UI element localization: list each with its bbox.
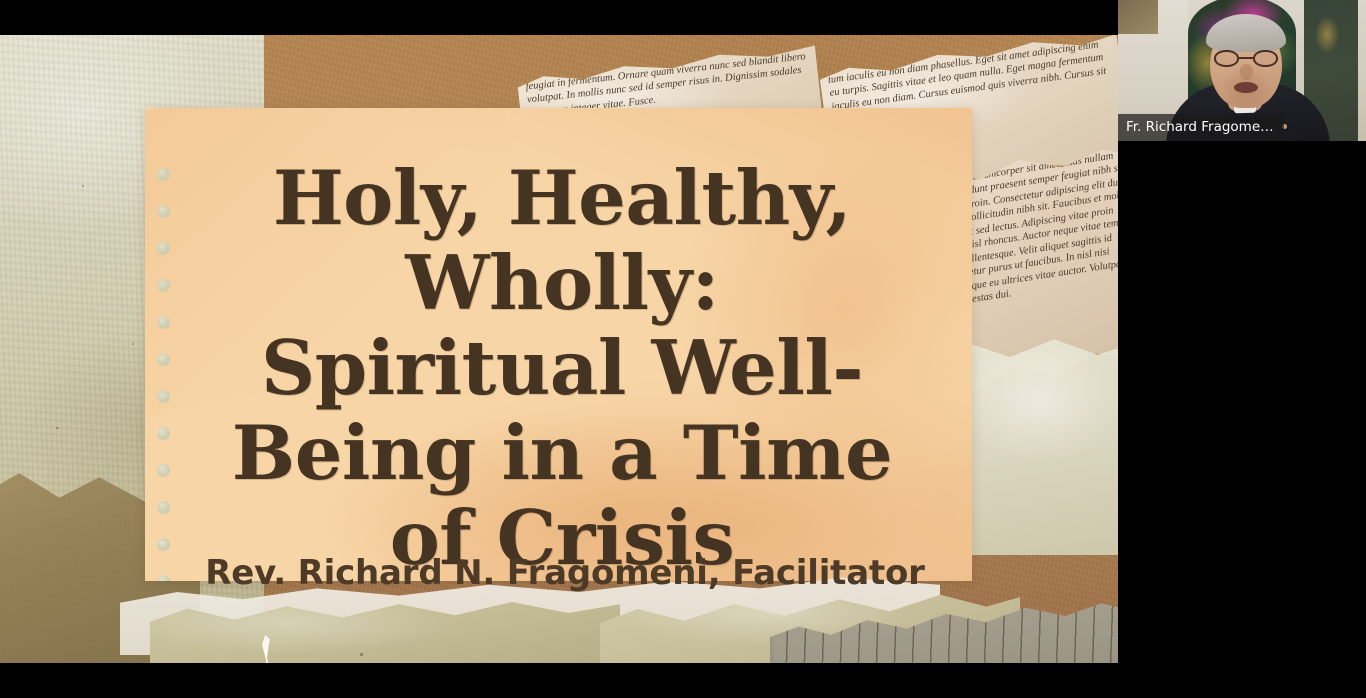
participant-mouth [1234,82,1258,93]
letterbox-top [0,0,1118,35]
letterbox-bottom [0,663,1118,698]
shared-screen-area[interactable]: feugiat in fermentum. Ornare quam viverr… [0,0,1118,698]
slide-title: Holy, Healthy, Wholly: Spiritual Well-Be… [217,156,907,581]
eyeglasses-icon [1214,50,1278,67]
eyeglass-lens-right [1253,50,1278,67]
participant-name-label: Fr. Richard Fragome… [1118,114,1284,141]
presentation-slide: feugiat in fermentum. Ornare quam viverr… [0,35,1118,663]
eyeglass-lens-left [1214,50,1239,67]
eyeglass-bridge [1239,57,1253,59]
slide-subtitle: Rev. Richard N. Fragomeni, Facilitator [185,553,945,593]
video-background-corner-object [1118,0,1158,34]
participant-video-tile[interactable]: Fr. Richard Fragome… [1118,0,1366,141]
slide-text-block: Holy, Healthy, Wholly: Spiritual Well-Be… [145,108,972,618]
right-panel-filler [1118,141,1366,698]
meeting-stage: feugiat in fermentum. Ornare quam viverr… [0,0,1366,698]
pale-paper-right [958,335,1118,555]
